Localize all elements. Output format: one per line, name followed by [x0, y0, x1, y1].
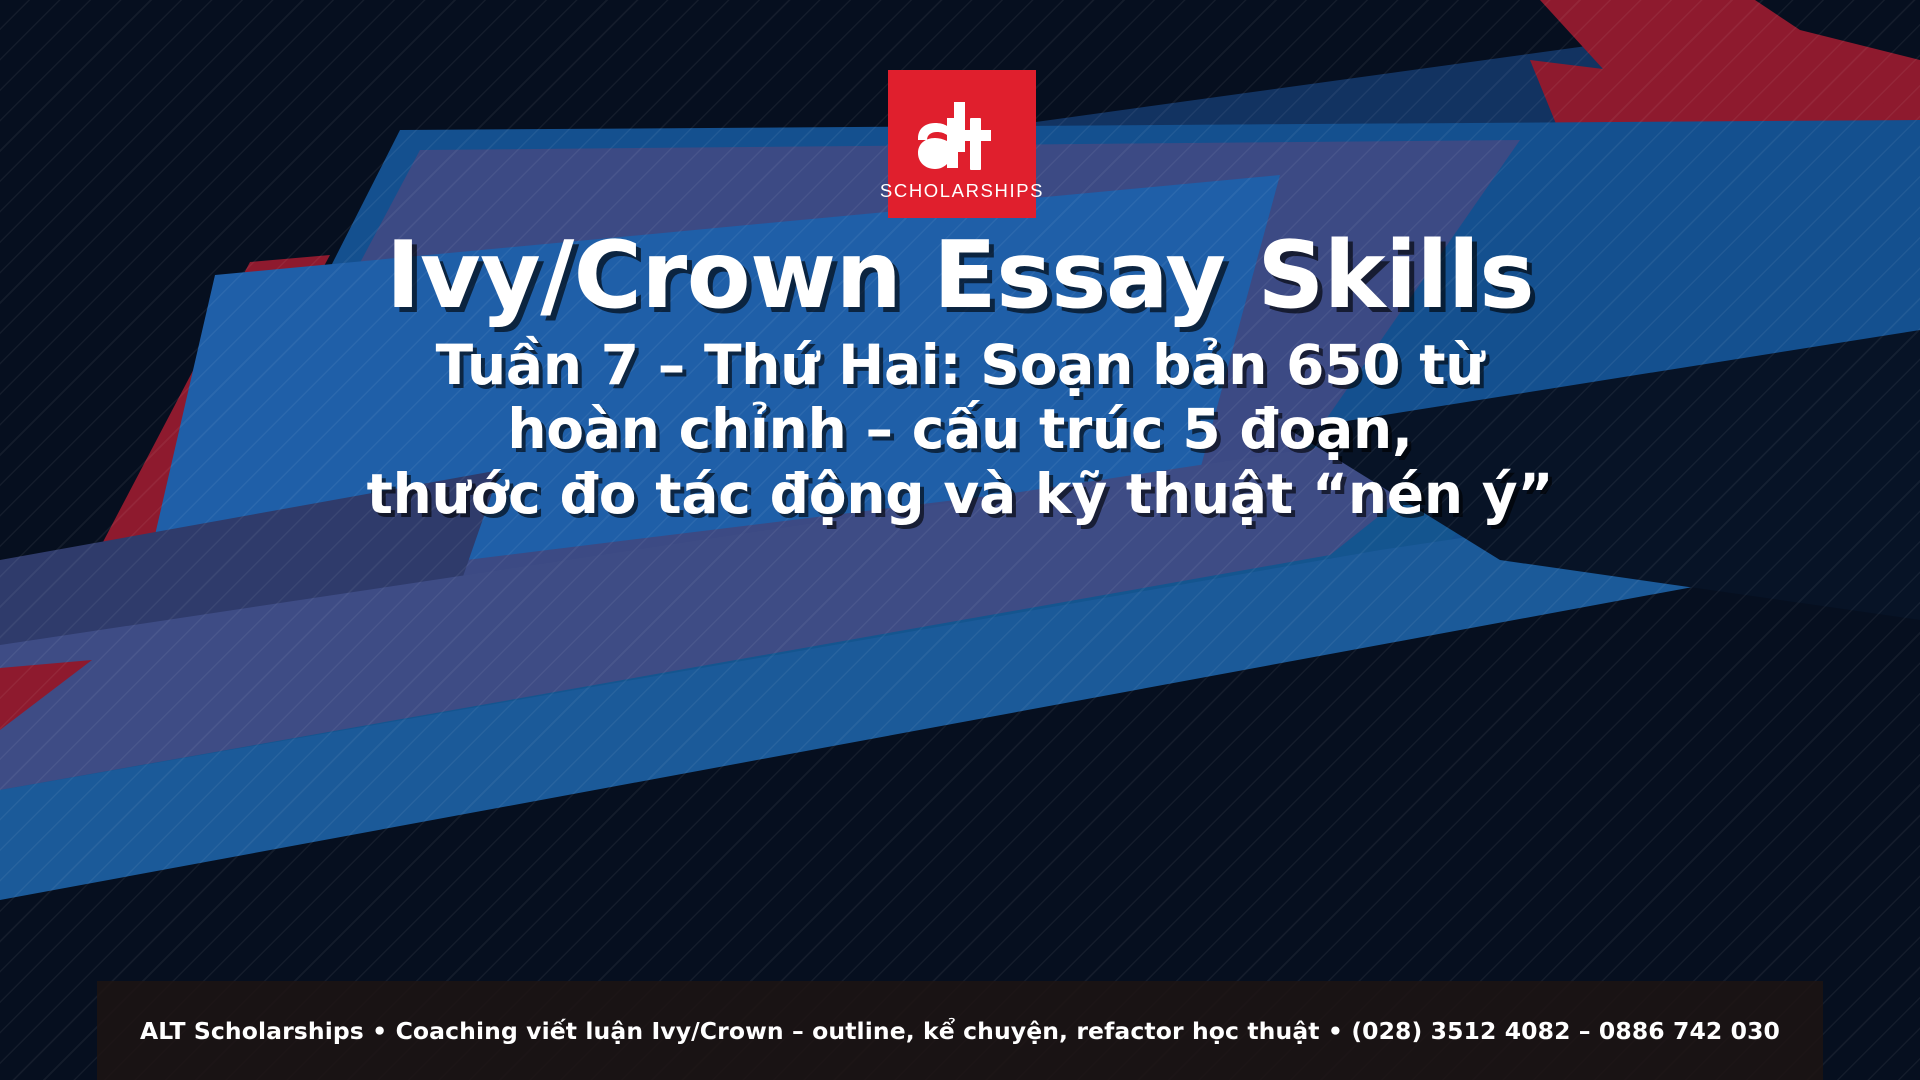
footer-contact-text: ALT Scholarships • Coaching viết luận Iv…	[140, 1017, 1780, 1045]
page-title: Ivy/Crown Essay Skills	[0, 228, 1920, 323]
subtitle-line-2: hoàn chỉnh – cấu trúc 5 đoạn,	[0, 397, 1920, 461]
footer-bar: ALT Scholarships • Coaching viết luận Iv…	[97, 981, 1823, 1080]
brand-logo: SCHOLARSHIPS	[888, 70, 1036, 218]
subtitle-line-1: Tuần 7 – Thứ Hai: Soạn bản 650 từ	[0, 333, 1920, 397]
subtitle-block: Tuần 7 – Thứ Hai: Soạn bản 650 từ hoàn c…	[0, 333, 1920, 526]
logo-wordmark: SCHOLARSHIPS	[880, 182, 1044, 201]
presentation-slide: SCHOLARSHIPS Ivy/Crown Essay Skills Tuần…	[0, 0, 1920, 1080]
title-block: Ivy/Crown Essay Skills Tuần 7 – Thứ Hai:…	[0, 228, 1920, 526]
subtitle-line-3: thước đo tác động và kỹ thuật “nén ý”	[0, 462, 1920, 526]
alt-monogram-icon	[910, 100, 1014, 178]
